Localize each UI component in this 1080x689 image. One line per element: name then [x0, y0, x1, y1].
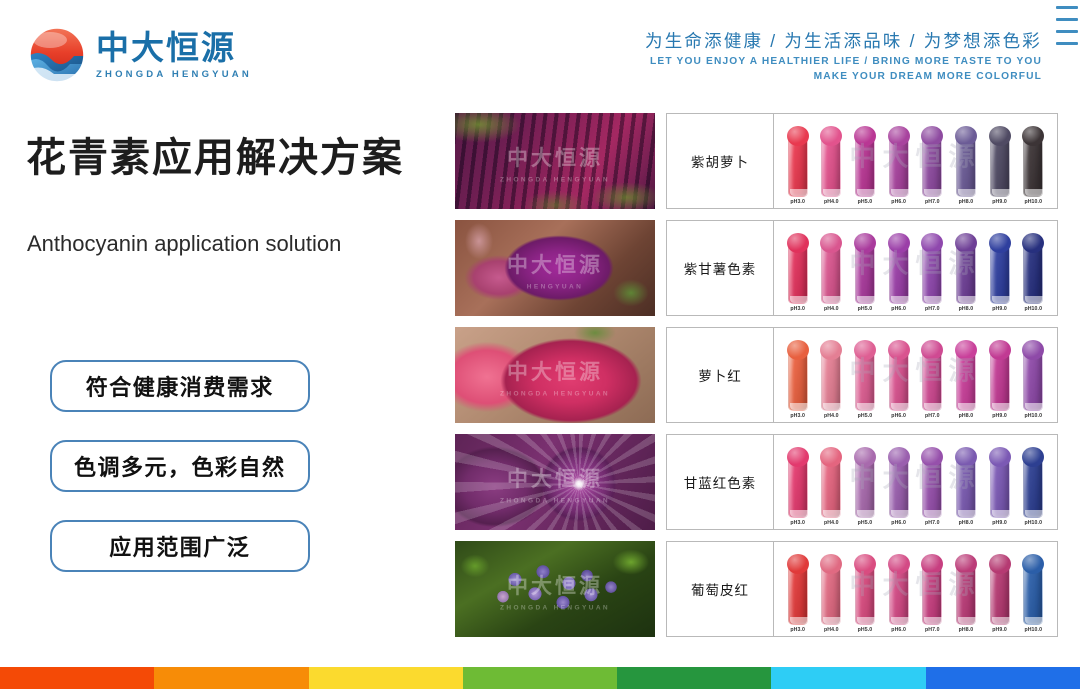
vial-liquid: [922, 567, 942, 625]
ph-vial-strip: 中大恒源pH3.0pH4.0pH5.0pH6.0pH7.0pH8.0pH9.0p…: [774, 221, 1057, 315]
ph-vial: pH4.0: [816, 135, 846, 205]
ph-vial: pH4.0: [816, 349, 846, 419]
vial-liquid: [788, 139, 808, 197]
ph-vial: pH5.0: [850, 349, 880, 419]
vial-graphic: [788, 135, 808, 197]
vial-top: [989, 233, 1011, 253]
ph-color-table: 紫胡萝卜中大恒源pH3.0pH4.0pH5.0pH6.0pH7.0pH8.0pH…: [666, 113, 1058, 648]
vial-liquid: [990, 567, 1010, 625]
footer-color-segment: [617, 667, 771, 689]
vial-liquid: [990, 460, 1010, 518]
ph-vial: pH7.0: [917, 135, 947, 205]
ph-value-label: pH6.0: [891, 413, 906, 419]
vial-graphic: [922, 456, 942, 518]
photo-watermark-sub: HENGYUAN: [527, 284, 583, 291]
photo-watermark-sub: ZHONGDA HENGYUAN: [500, 605, 610, 612]
tagline-decoration-bars: [1056, 6, 1078, 54]
vial-liquid: [788, 246, 808, 304]
ph-vial: pH6.0: [884, 563, 914, 633]
ph-vial: pH10.0: [1018, 135, 1048, 205]
red-cabbage-photo: 中大恒源 ZHONGDA HENGYUAN: [455, 434, 655, 530]
vial-liquid: [855, 246, 875, 304]
vial-liquid: [1023, 353, 1043, 411]
vial-liquid: [956, 139, 976, 197]
vial-graphic: [1023, 242, 1043, 304]
vial-top: [989, 126, 1011, 146]
ph-vial-strip: 中大恒源pH3.0pH4.0pH5.0pH6.0pH7.0pH8.0pH9.0p…: [774, 542, 1057, 636]
ph-value-label: pH7.0: [925, 306, 940, 312]
vial-top: [787, 233, 809, 253]
vial-graphic: [990, 349, 1010, 411]
ph-vial: pH6.0: [884, 349, 914, 419]
vial-graphic: [956, 242, 976, 304]
vial-graphic: [922, 563, 942, 625]
vial-liquid: [990, 139, 1010, 197]
ph-vial: pH4.0: [816, 563, 846, 633]
decoration-bar: [1056, 6, 1078, 9]
vial-liquid: [788, 460, 808, 518]
vial-graphic: [889, 563, 909, 625]
ph-value-label: pH4.0: [824, 199, 839, 205]
feature-box-1[interactable]: 色调多元，色彩自然: [50, 440, 310, 492]
decoration-bar: [1056, 18, 1078, 21]
ph-vial: pH9.0: [985, 349, 1015, 419]
vial-graphic: [788, 563, 808, 625]
ph-row: 甘蓝红色素中大恒源pH3.0pH4.0pH5.0pH6.0pH7.0pH8.0p…: [666, 434, 1058, 530]
ph-vial: pH5.0: [850, 242, 880, 312]
footer-color-segment: [309, 667, 463, 689]
vial-graphic: [990, 456, 1010, 518]
photo-watermark: 中大恒源: [507, 356, 603, 386]
vial-graphic: [1023, 349, 1043, 411]
vial-top: [955, 340, 977, 360]
red-radish-photo: 中大恒源 ZHONGDA HENGYUAN: [455, 327, 655, 423]
ph-value-label: pH4.0: [824, 413, 839, 419]
vial-top: [854, 447, 876, 467]
purple-sweet-potato-photo: 中大恒源 HENGYUAN: [455, 220, 655, 316]
vial-graphic: [990, 242, 1010, 304]
ph-vial: pH5.0: [850, 456, 880, 526]
decoration-bar: [1056, 42, 1078, 45]
vial-graphic: [821, 135, 841, 197]
vial-graphic: [922, 349, 942, 411]
ph-vial: pH7.0: [917, 456, 947, 526]
ph-vial: pH7.0: [917, 242, 947, 312]
vial-liquid: [821, 567, 841, 625]
feature-box-0[interactable]: 符合健康消费需求: [50, 360, 310, 412]
vial-top: [989, 340, 1011, 360]
ph-value-label: pH8.0: [959, 199, 974, 205]
vial-liquid: [821, 460, 841, 518]
vial-liquid: [956, 353, 976, 411]
ph-vial: pH7.0: [917, 563, 947, 633]
ph-vial: pH8.0: [951, 456, 981, 526]
ph-value-label: pH3.0: [790, 199, 805, 205]
ph-row: 紫甘薯色素中大恒源pH3.0pH4.0pH5.0pH6.0pH7.0pH8.0p…: [666, 220, 1058, 316]
vial-top: [787, 126, 809, 146]
vial-liquid: [889, 567, 909, 625]
ph-vial-strip: 中大恒源pH3.0pH4.0pH5.0pH6.0pH7.0pH8.0pH9.0p…: [774, 114, 1057, 208]
vial-liquid: [821, 353, 841, 411]
ph-value-label: pH8.0: [959, 627, 974, 633]
ph-vial-strip: 中大恒源pH3.0pH4.0pH5.0pH6.0pH7.0pH8.0pH9.0p…: [774, 435, 1057, 529]
tagline-en-line1: LET YOU ENJOY A HEALTHIER LIFE / BRING M…: [645, 54, 1042, 70]
vial-graphic: [855, 135, 875, 197]
vial-top: [854, 340, 876, 360]
vial-top: [955, 126, 977, 146]
ph-value-label: pH10.0: [1024, 627, 1042, 633]
ph-value-label: pH8.0: [959, 413, 974, 419]
vial-liquid: [956, 246, 976, 304]
ph-value-label: pH5.0: [858, 306, 873, 312]
photo-watermark-sub: ZHONGDA HENGYUAN: [500, 177, 610, 184]
vial-liquid: [922, 246, 942, 304]
vial-graphic: [922, 135, 942, 197]
decoration-bar: [1056, 30, 1078, 33]
ph-vial: pH10.0: [1018, 456, 1048, 526]
ph-value-label: pH4.0: [824, 627, 839, 633]
page-header: 中大恒源 ZHONGDA HENGYUAN 为生命添健康 / 为生活添品味 / …: [0, 0, 1080, 110]
vial-graphic: [788, 456, 808, 518]
vial-liquid: [922, 460, 942, 518]
ph-vial: pH10.0: [1018, 349, 1048, 419]
photo-watermark-sub: ZHONGDA HENGYUAN: [500, 391, 610, 398]
vial-graphic: [990, 563, 1010, 625]
footer-color-segment: [771, 667, 925, 689]
ph-value-label: pH5.0: [858, 627, 873, 633]
brand-logo: 中大恒源 ZHONGDA HENGYUAN: [28, 26, 252, 84]
ph-value-label: pH10.0: [1024, 520, 1042, 526]
ph-vial-strip: 中大恒源pH3.0pH4.0pH5.0pH6.0pH7.0pH8.0pH9.0p…: [774, 328, 1057, 422]
vial-graphic: [1023, 456, 1043, 518]
vial-liquid: [889, 353, 909, 411]
ph-value-label: pH4.0: [824, 306, 839, 312]
feature-list: 符合健康消费需求 色调多元，色彩自然 应用范围广泛: [50, 360, 310, 600]
vial-graphic: [821, 242, 841, 304]
ph-vial: pH6.0: [884, 456, 914, 526]
vial-graphic: [855, 563, 875, 625]
ph-vial: pH8.0: [951, 135, 981, 205]
vial-top: [854, 126, 876, 146]
vial-liquid: [990, 246, 1010, 304]
vial-liquid: [889, 460, 909, 518]
ph-row: 紫胡萝卜中大恒源pH3.0pH4.0pH5.0pH6.0pH7.0pH8.0pH…: [666, 113, 1058, 209]
ph-vial: pH8.0: [951, 349, 981, 419]
vial-graphic: [855, 456, 875, 518]
ph-row-label: 紫胡萝卜: [667, 114, 774, 208]
vial-top: [888, 340, 910, 360]
vial-top: [854, 554, 876, 574]
tagline-en-line2: MAKE YOUR DREAM MORE COLORFUL: [645, 69, 1042, 85]
vial-graphic: [956, 456, 976, 518]
ph-row-label: 甘蓝红色素: [667, 435, 774, 529]
vial-liquid: [1023, 139, 1043, 197]
source-photo-column: 中大恒源 ZHONGDA HENGYUAN 中大恒源 HENGYUAN 中大恒源…: [455, 113, 655, 648]
ph-vial: pH6.0: [884, 135, 914, 205]
vial-top: [989, 554, 1011, 574]
ph-value-label: pH8.0: [959, 306, 974, 312]
ph-value-label: pH4.0: [824, 520, 839, 526]
feature-label: 符合健康消费需求: [86, 370, 274, 402]
left-panel: 花青素应用解决方案 Anthocyanin application soluti…: [0, 110, 450, 645]
ph-value-label: pH3.0: [790, 306, 805, 312]
vial-liquid: [956, 460, 976, 518]
vial-liquid: [889, 139, 909, 197]
ph-vial: pH3.0: [783, 349, 813, 419]
vial-graphic: [889, 349, 909, 411]
ph-value-label: pH6.0: [891, 627, 906, 633]
ph-vial: pH4.0: [816, 242, 846, 312]
ph-value-label: pH3.0: [790, 520, 805, 526]
vial-graphic: [821, 456, 841, 518]
ph-vial: pH9.0: [985, 563, 1015, 633]
vial-top: [955, 447, 977, 467]
ph-row-label: 葡萄皮红: [667, 542, 774, 636]
vial-graphic: [821, 349, 841, 411]
vial-graphic: [788, 349, 808, 411]
ph-value-label: pH6.0: [891, 520, 906, 526]
ph-vial: pH9.0: [985, 135, 1015, 205]
tagline: 为生命添健康 / 为生活添品味 / 为梦想添色彩 LET YOU ENJOY A…: [645, 30, 1042, 85]
vial-top: [787, 554, 809, 574]
vial-graphic: [788, 242, 808, 304]
vial-top: [854, 233, 876, 253]
vial-top: [787, 447, 809, 467]
vial-liquid: [1023, 246, 1043, 304]
vial-liquid: [922, 139, 942, 197]
ph-value-label: pH6.0: [891, 306, 906, 312]
photo-watermark: 中大恒源: [507, 142, 603, 172]
ph-row-label: 萝卜红: [667, 328, 774, 422]
ph-vial: pH10.0: [1018, 242, 1048, 312]
ph-value-label: pH9.0: [992, 627, 1007, 633]
vial-liquid: [788, 567, 808, 625]
vial-liquid: [821, 139, 841, 197]
vial-top: [955, 554, 977, 574]
ph-value-label: pH10.0: [1024, 413, 1042, 419]
purple-carrot-photo: 中大恒源 ZHONGDA HENGYUAN: [455, 113, 655, 209]
ph-value-label: pH10.0: [1024, 199, 1042, 205]
photo-watermark-sub: ZHONGDA HENGYUAN: [500, 498, 610, 505]
ph-value-label: pH7.0: [925, 413, 940, 419]
vial-graphic: [889, 242, 909, 304]
footer-color-segment: [154, 667, 308, 689]
vial-graphic: [855, 349, 875, 411]
vial-liquid: [855, 460, 875, 518]
ph-value-label: pH3.0: [790, 413, 805, 419]
page-subtitle: Anthocyanin application solution: [27, 228, 397, 260]
footer-color-bar: [0, 667, 1080, 689]
vial-graphic: [1023, 563, 1043, 625]
photo-watermark: 中大恒源: [507, 463, 603, 493]
ph-vial: pH6.0: [884, 242, 914, 312]
photo-watermark: 中大恒源: [507, 249, 603, 279]
vial-top: [955, 233, 977, 253]
ph-row: 葡萄皮红中大恒源pH3.0pH4.0pH5.0pH6.0pH7.0pH8.0pH…: [666, 541, 1058, 637]
vial-top: [989, 447, 1011, 467]
vial-liquid: [788, 353, 808, 411]
ph-vial: pH8.0: [951, 563, 981, 633]
vial-graphic: [956, 563, 976, 625]
vial-liquid: [821, 246, 841, 304]
vial-graphic: [855, 242, 875, 304]
vial-liquid: [956, 567, 976, 625]
ph-value-label: pH7.0: [925, 199, 940, 205]
ph-vial: pH3.0: [783, 242, 813, 312]
page-title: 花青素应用解决方案: [26, 135, 404, 181]
vial-liquid: [990, 353, 1010, 411]
ph-value-label: pH6.0: [891, 199, 906, 205]
ph-value-label: pH9.0: [992, 520, 1007, 526]
feature-label: 应用范围广泛: [109, 530, 250, 562]
vial-liquid: [855, 353, 875, 411]
vial-liquid: [889, 246, 909, 304]
footer-color-segment: [926, 667, 1080, 689]
footer-color-segment: [463, 667, 617, 689]
brand-name-cn: 中大恒源: [96, 30, 252, 66]
vial-graphic: [1023, 135, 1043, 197]
vial-liquid: [1023, 460, 1043, 518]
vial-top: [888, 126, 910, 146]
ph-value-label: pH5.0: [858, 199, 873, 205]
ph-vial: pH4.0: [816, 456, 846, 526]
vial-liquid: [922, 353, 942, 411]
ph-value-label: pH5.0: [858, 520, 873, 526]
photo-watermark: 中大恒源: [507, 570, 603, 600]
vial-graphic: [889, 135, 909, 197]
vial-graphic: [956, 349, 976, 411]
vial-graphic: [990, 135, 1010, 197]
vial-top: [787, 340, 809, 360]
vial-liquid: [1023, 567, 1043, 625]
vial-top: [888, 447, 910, 467]
ph-row: 萝卜红中大恒源pH3.0pH4.0pH5.0pH6.0pH7.0pH8.0pH9…: [666, 327, 1058, 423]
feature-box-2[interactable]: 应用范围广泛: [50, 520, 310, 572]
ph-value-label: pH7.0: [925, 627, 940, 633]
vial-top: [888, 554, 910, 574]
vial-top: [888, 233, 910, 253]
ph-value-label: pH8.0: [959, 520, 974, 526]
brand-wordmark: 中大恒源 ZHONGDA HENGYUAN: [96, 30, 252, 80]
ph-value-label: pH3.0: [790, 627, 805, 633]
tagline-cn: 为生命添健康 / 为生活添品味 / 为梦想添色彩: [645, 30, 1042, 54]
feature-label: 色调多元，色彩自然: [74, 450, 286, 482]
ph-vial: pH3.0: [783, 456, 813, 526]
ph-vial: pH10.0: [1018, 563, 1048, 633]
ph-vial: pH7.0: [917, 349, 947, 419]
brand-name-en: ZHONGDA HENGYUAN: [96, 69, 252, 80]
ph-vial: pH9.0: [985, 242, 1015, 312]
ph-vial: pH3.0: [783, 135, 813, 205]
ph-vial: pH5.0: [850, 135, 880, 205]
vial-graphic: [821, 563, 841, 625]
ph-value-label: pH7.0: [925, 520, 940, 526]
ph-vial: pH3.0: [783, 563, 813, 633]
vial-graphic: [922, 242, 942, 304]
ph-row-label: 紫甘薯色素: [667, 221, 774, 315]
vial-graphic: [956, 135, 976, 197]
ph-vial: pH8.0: [951, 242, 981, 312]
ph-value-label: pH9.0: [992, 199, 1007, 205]
ph-value-label: pH10.0: [1024, 306, 1042, 312]
vial-graphic: [889, 456, 909, 518]
ph-value-label: pH5.0: [858, 413, 873, 419]
vial-liquid: [855, 567, 875, 625]
ph-vial: pH9.0: [985, 456, 1015, 526]
vial-liquid: [855, 139, 875, 197]
grape-photo: 中大恒源 ZHONGDA HENGYUAN: [455, 541, 655, 637]
sun-wave-logo-icon: [28, 26, 86, 84]
ph-vial: pH5.0: [850, 563, 880, 633]
ph-value-label: pH9.0: [992, 413, 1007, 419]
footer-color-segment: [0, 667, 154, 689]
ph-value-label: pH9.0: [992, 306, 1007, 312]
